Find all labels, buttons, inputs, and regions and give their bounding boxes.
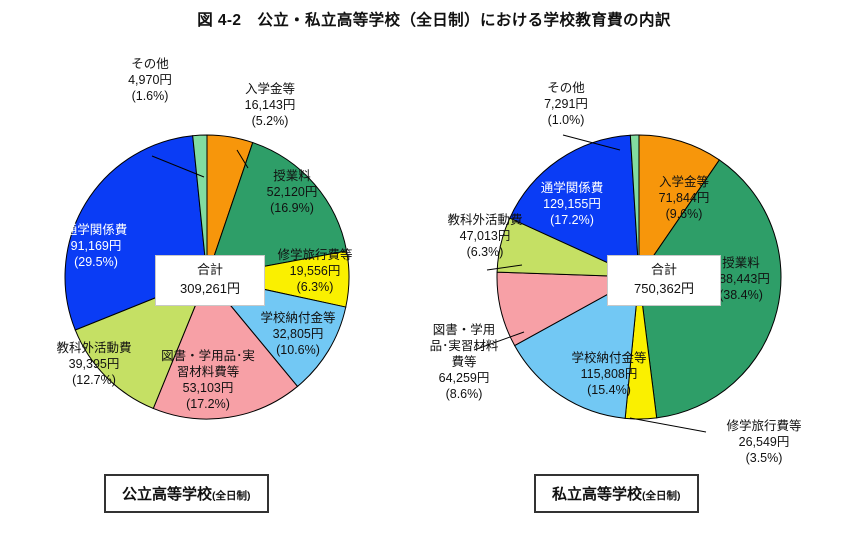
chart-panel-public-high-school: その他 4,970円 (1.6%) 入学金等 16,143円 (5.2%) 授業… xyxy=(0,40,434,546)
pie-label-tuition-public: 授業料 52,120円 (16.9%) xyxy=(240,168,344,216)
pie-label-other-public: その他 4,970円 (1.6%) xyxy=(104,56,196,104)
caption-sub-public: (全日制) xyxy=(212,490,251,502)
total-box-public: 合計 309,261円 xyxy=(155,255,265,306)
total-box-private: 合計 750,362円 xyxy=(607,255,721,306)
caption-private-high-school: 私立高等学校(全日制) xyxy=(534,474,699,513)
pie-label-extracurricular-public: 教科外活動費 39,395円 (12.7%) xyxy=(34,340,154,388)
pie-label-books-materials-private: 図書・学用 品･実習材料 費等 64,259円 (8.6%) xyxy=(414,322,514,402)
page-title: 図 4-2 公立・私立高等学校（全日制）における学校教育費の内訳 xyxy=(0,8,868,30)
pie-label-commuting-public: 通学関係費 91,169円 (29.5%) xyxy=(36,222,156,270)
pie-label-other-private: その他 7,291円 (1.0%) xyxy=(520,80,612,128)
chart-panel-private-high-school: その他 7,291円 (1.0%) 入学金等 71,844円 (9.6%) 授業… xyxy=(434,40,868,546)
pie-label-books-materials-public: 図書・学用品･実 習材料費等 53,103円 (17.2%) xyxy=(150,348,266,412)
pie-label-entrance-fee-public: 入学金等 16,143円 (5.2%) xyxy=(218,81,322,129)
pie-label-school-trip-private: 修学旅行費等 26,549円 (3.5%) xyxy=(704,418,824,466)
caption-public-high-school: 公立高等学校(全日制) xyxy=(104,474,269,513)
pie-label-entrance-fee-private: 入学金等 71,844円 (9.6%) xyxy=(634,174,734,222)
pie-label-commuting-private: 通学関係費 129,155円 (17.2%) xyxy=(514,180,630,228)
caption-sub-private: (全日制) xyxy=(642,490,681,502)
caption-main-public: 公立高等学校 xyxy=(122,486,212,503)
pie-label-school-payments-private: 学校納付金等 115,808円 (15.4%) xyxy=(552,350,666,398)
caption-main-private: 私立高等学校 xyxy=(552,486,642,503)
pie-label-school-trip-public: 修学旅行費等 19,556円 (6.3%) xyxy=(255,247,375,295)
